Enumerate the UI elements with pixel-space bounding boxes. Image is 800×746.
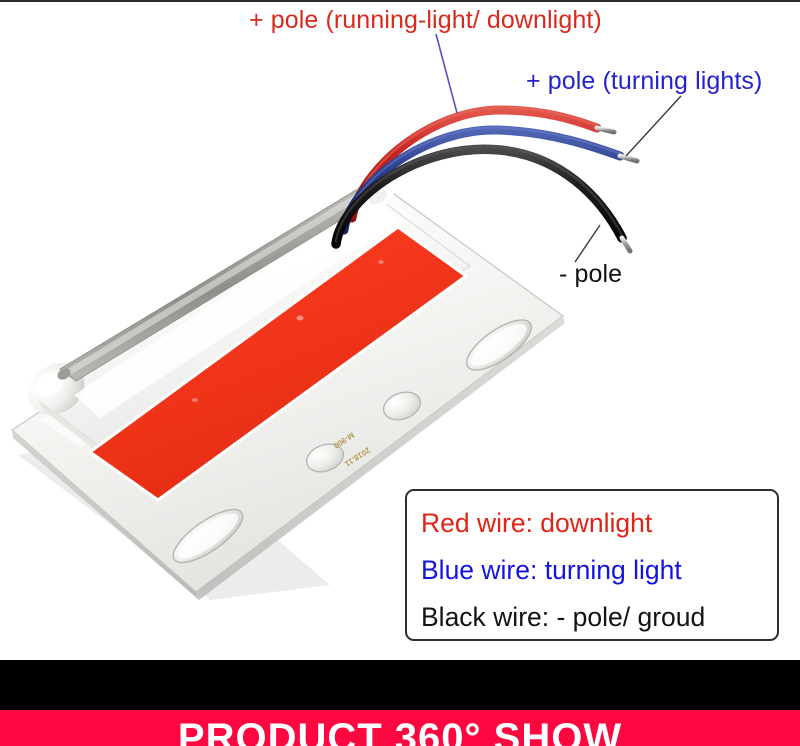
footer-banner-text: PRODUCT 360° SHOW <box>0 716 800 746</box>
annotation-positive-turning-light: + pole (turning lights) <box>526 69 762 94</box>
annotation-positive-running-light: + pole (running-light/ downlight) <box>249 8 602 33</box>
product-diagram-canvas: M-900 2018.11 <box>0 0 800 746</box>
footer-banner: PRODUCT 360° SHOW <box>0 710 800 746</box>
legend-line-black-wire: Black wire: - pole/ groud <box>421 594 777 641</box>
legend-line-blue-wire: Blue wire: turning light <box>421 547 777 594</box>
leader-line-negative-pole <box>575 225 600 262</box>
wire-legend-box: Red wire: downlight Blue wire: turning l… <box>405 489 779 641</box>
annotation-negative-pole: - pole <box>559 262 622 287</box>
blue-wire-tip <box>620 156 637 161</box>
footer-spacer-band <box>0 660 800 710</box>
leader-line-turning-light <box>626 96 681 156</box>
leader-line-running-light <box>436 34 457 113</box>
legend-line-red-wire: Red wire: downlight <box>421 500 777 547</box>
black-wire-tip <box>622 238 630 251</box>
